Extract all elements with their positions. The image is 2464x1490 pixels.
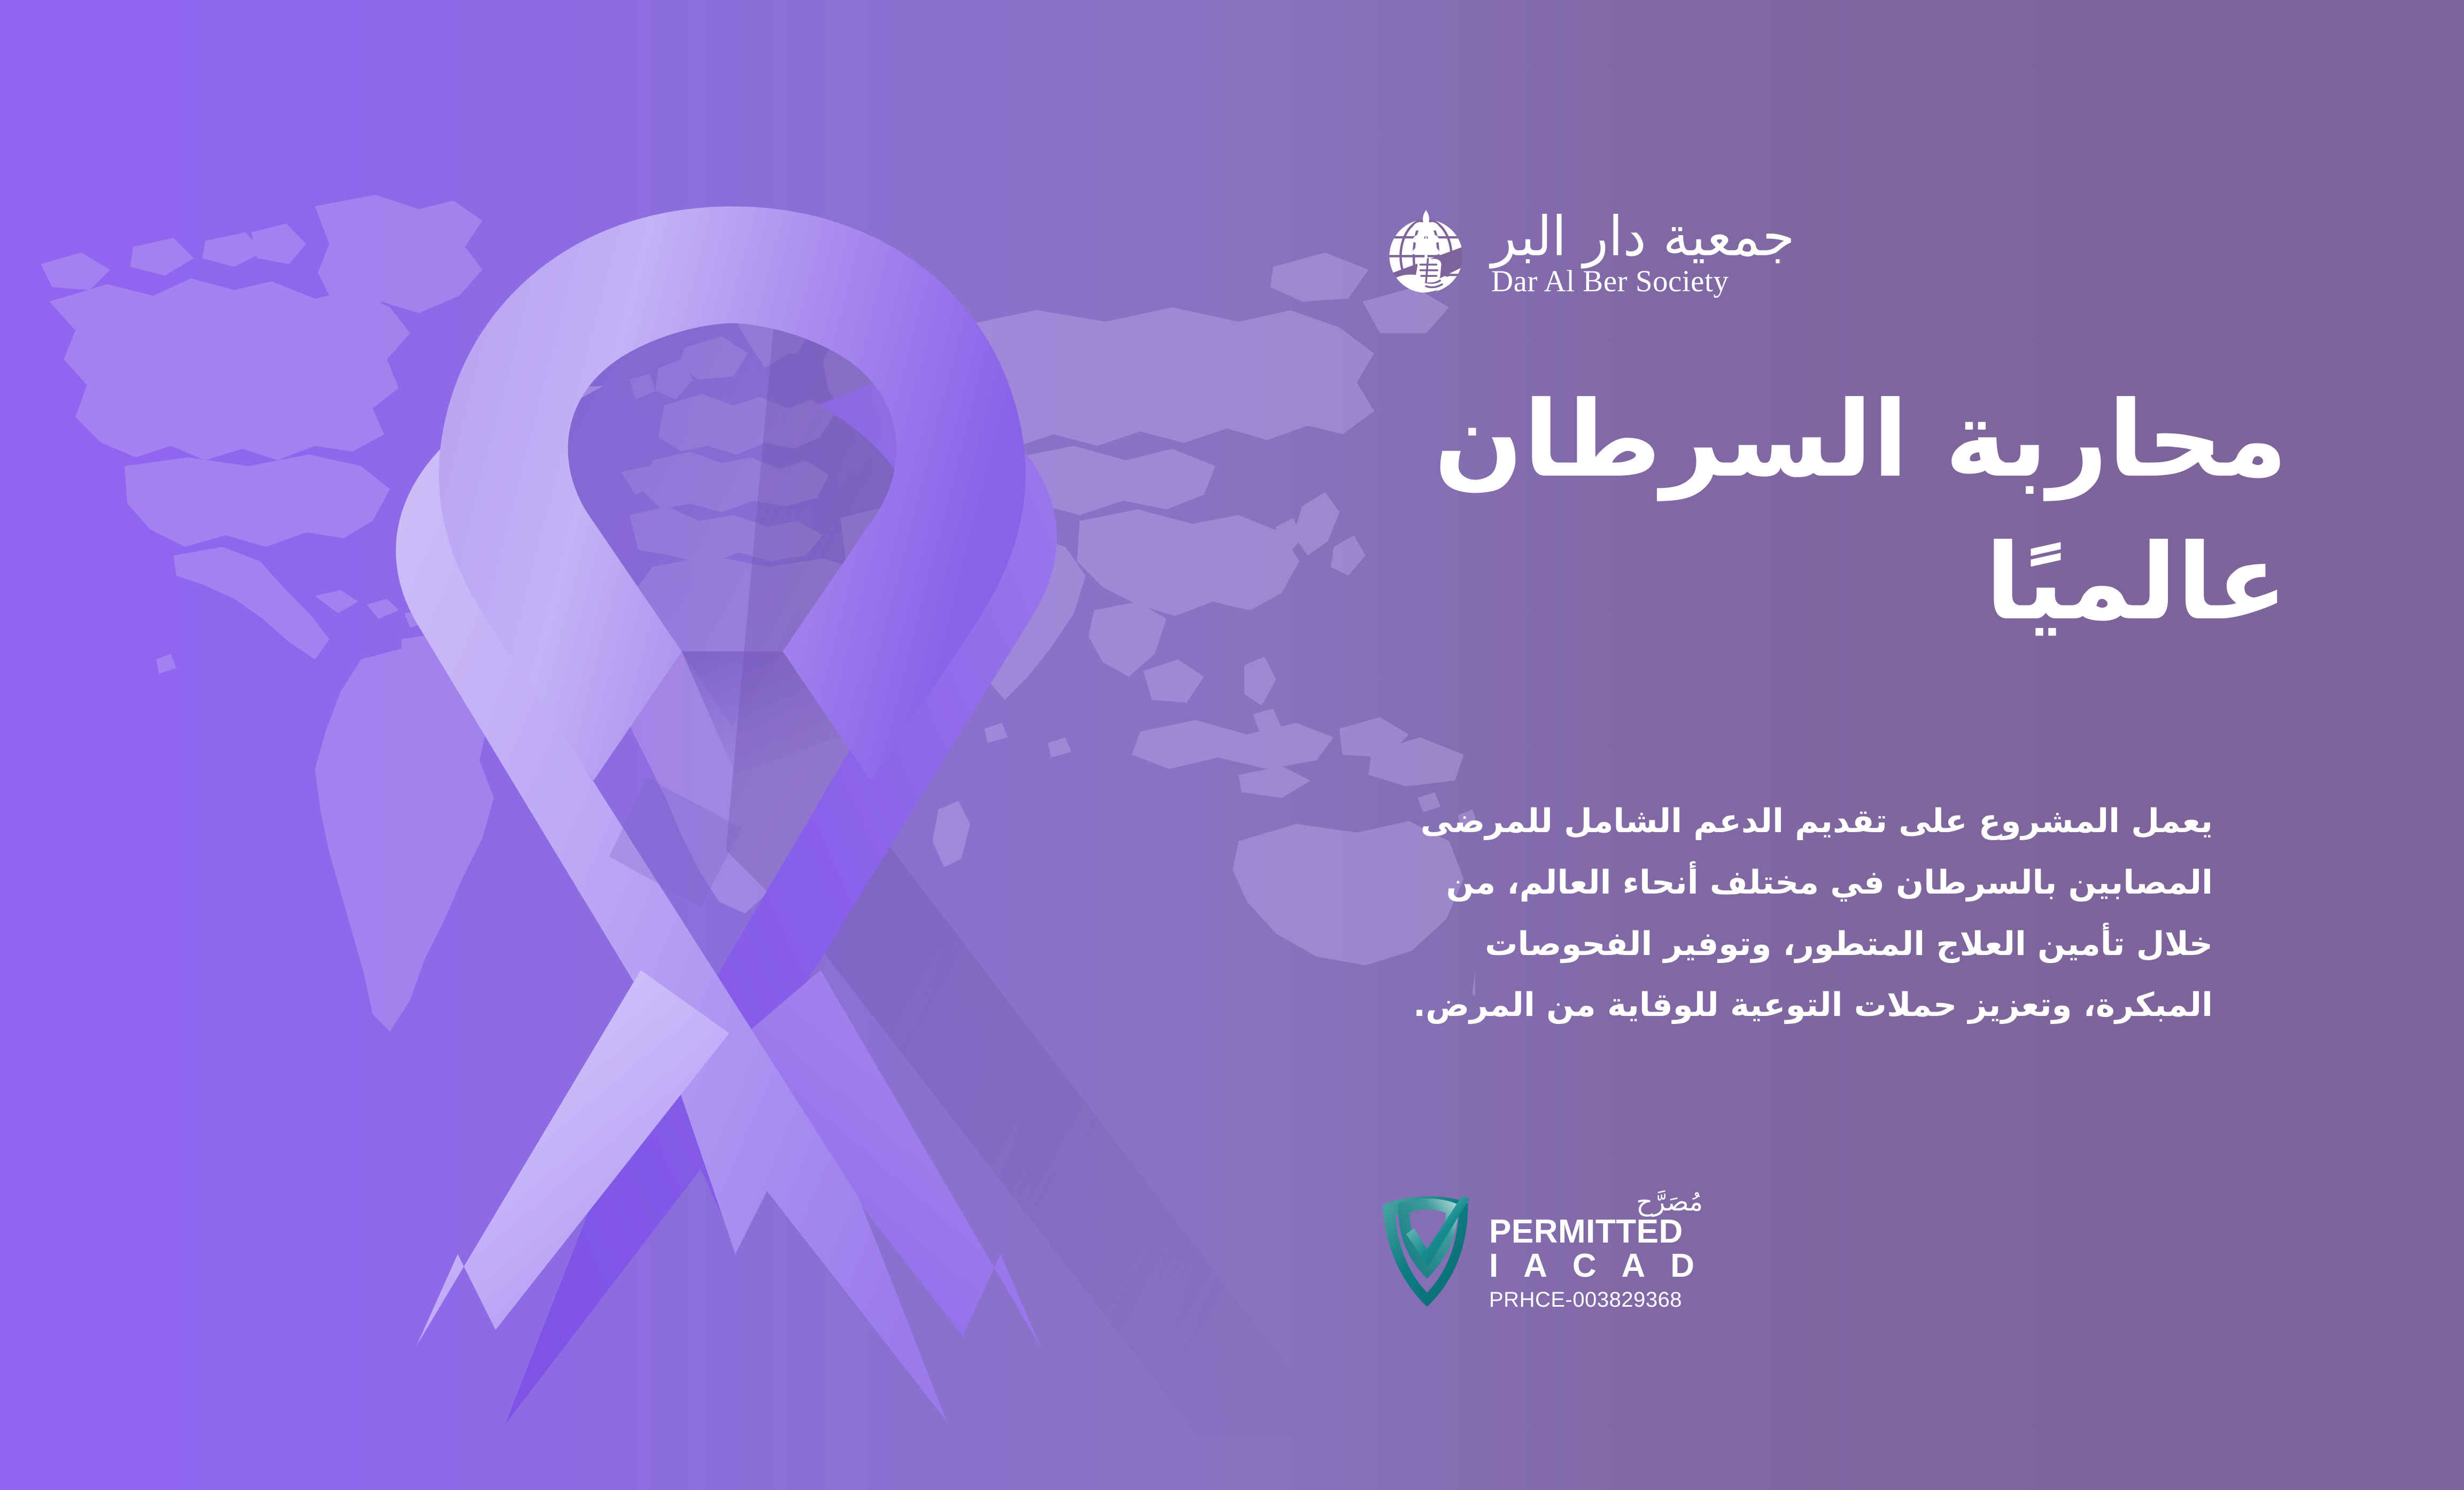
permit-badge: مُصَرَّح PERMITTED I A C A D PRHCE-00382… [1379, 1189, 1703, 1314]
teal-check-shield-icon [1379, 1190, 1475, 1313]
world-map-icon [32, 160, 1475, 1176]
permit-label-english: PERMITTED [1489, 1215, 1683, 1248]
brand-lockup: جمعية دار البر Dar Al Ber Society [1379, 206, 1795, 300]
awareness-ribbon-icon [176, 150, 1288, 1475]
brand-wordmark: جمعية دار البر Dar Al Ber Society [1491, 211, 1795, 297]
permit-label-arabic: مُصَرَّح [1636, 1189, 1703, 1215]
permit-authority: I A C A D [1489, 1248, 1703, 1283]
brand-name-arabic: جمعية دار البر [1491, 209, 1795, 264]
permit-text-block: مُصَرَّح PERMITTED I A C A D PRHCE-00382… [1489, 1189, 1703, 1314]
content-column: جمعية دار البر Dar Al Ber Society محاربة… [1379, 0, 2288, 1490]
poster-canvas: جمعية دار البر Dar Al Ber Society محاربة… [0, 0, 2464, 1490]
globe-wheat-hand-icon [1379, 206, 1473, 300]
permit-license-code: PRHCE-003829368 [1489, 1286, 1682, 1314]
brand-name-english: Dar Al Ber Society [1491, 266, 1729, 297]
page-title: محاربة السرطان عالميًا [1379, 369, 2288, 654]
description-paragraph: يعمل المشروع على تقديم الدعم الشامل للمر… [1379, 791, 2213, 1036]
